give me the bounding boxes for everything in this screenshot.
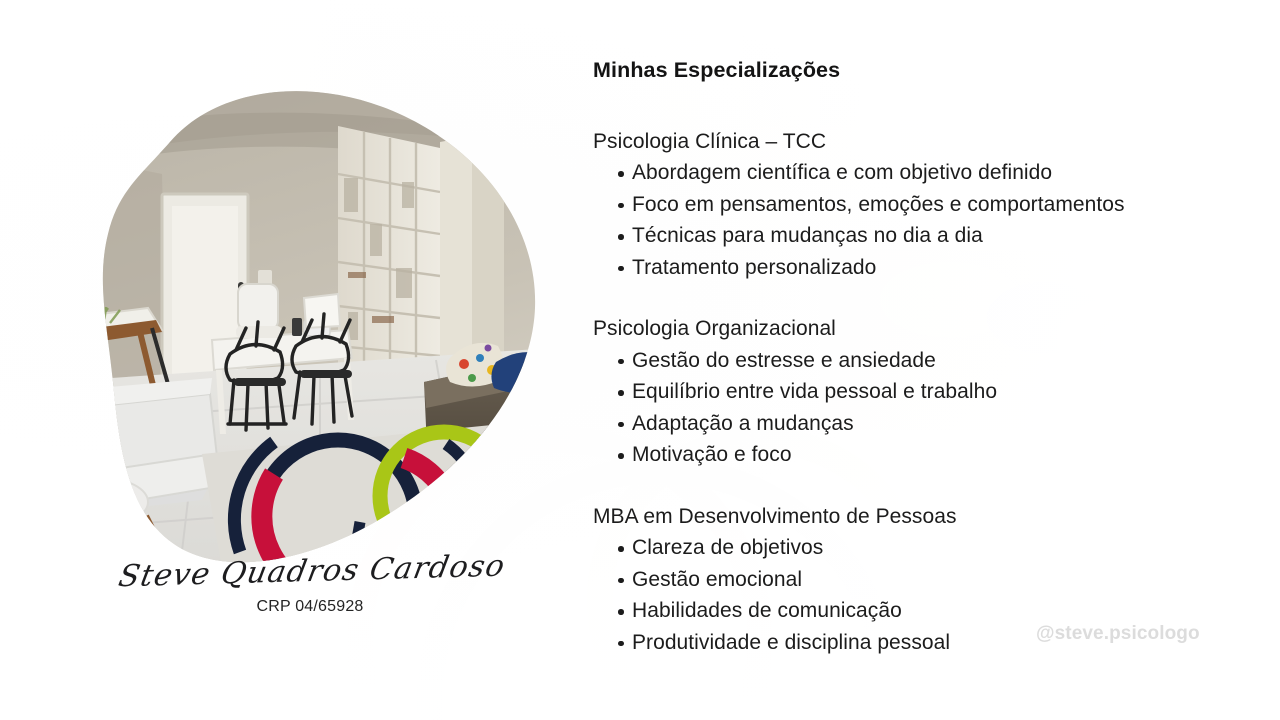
office-photo-art: [52, 82, 552, 568]
section-heading: Psicologia Clínica – TCC: [593, 126, 1233, 158]
section-heading: MBA em Desenvolvimento de Pessoas: [593, 501, 1233, 533]
signature-block: Steve Quadros Cardoso CRP 04/65928: [120, 556, 500, 616]
list-item: Abordagem científica e com objetivo defi…: [593, 157, 1233, 189]
specializations-content: Minhas Especializações Psicologia Clínic…: [593, 58, 1233, 658]
section-psicologia-organizacional: Psicologia Organizacional Gestão do estr…: [593, 313, 1233, 471]
list-item: Técnicas para mudanças no dia a dia: [593, 220, 1233, 252]
section-heading: Psicologia Organizacional: [593, 313, 1233, 345]
list-item: Tratamento personalizado: [593, 252, 1233, 284]
office-photo: [52, 82, 552, 568]
author-signature: Steve Quadros Cardoso: [116, 551, 504, 593]
instagram-watermark: @steve.psicologo: [1036, 623, 1200, 645]
list-item: Adaptação a mudanças: [593, 408, 1233, 440]
section-psicologia-clinica: Psicologia Clínica – TCC Abordagem cient…: [593, 126, 1233, 284]
list-item: Clareza de objetivos: [593, 532, 1233, 564]
slide-canvas: Steve Quadros Cardoso CRP 04/65928 Minha…: [0, 0, 1280, 720]
section-bullet-list: Abordagem científica e com objetivo defi…: [593, 157, 1233, 283]
list-item: Gestão emocional: [593, 564, 1233, 596]
list-item: Equilíbrio entre vida pessoal e trabalho: [593, 376, 1233, 408]
list-item: Gestão do estresse e ansiedade: [593, 345, 1233, 377]
page-title: Minhas Especializações: [593, 58, 1233, 84]
author-license: CRP 04/65928: [120, 598, 500, 616]
section-bullet-list: Gestão do estresse e ansiedade Equilíbri…: [593, 345, 1233, 471]
list-item: Motivação e foco: [593, 439, 1233, 471]
list-item: Foco em pensamentos, emoções e comportam…: [593, 189, 1233, 221]
